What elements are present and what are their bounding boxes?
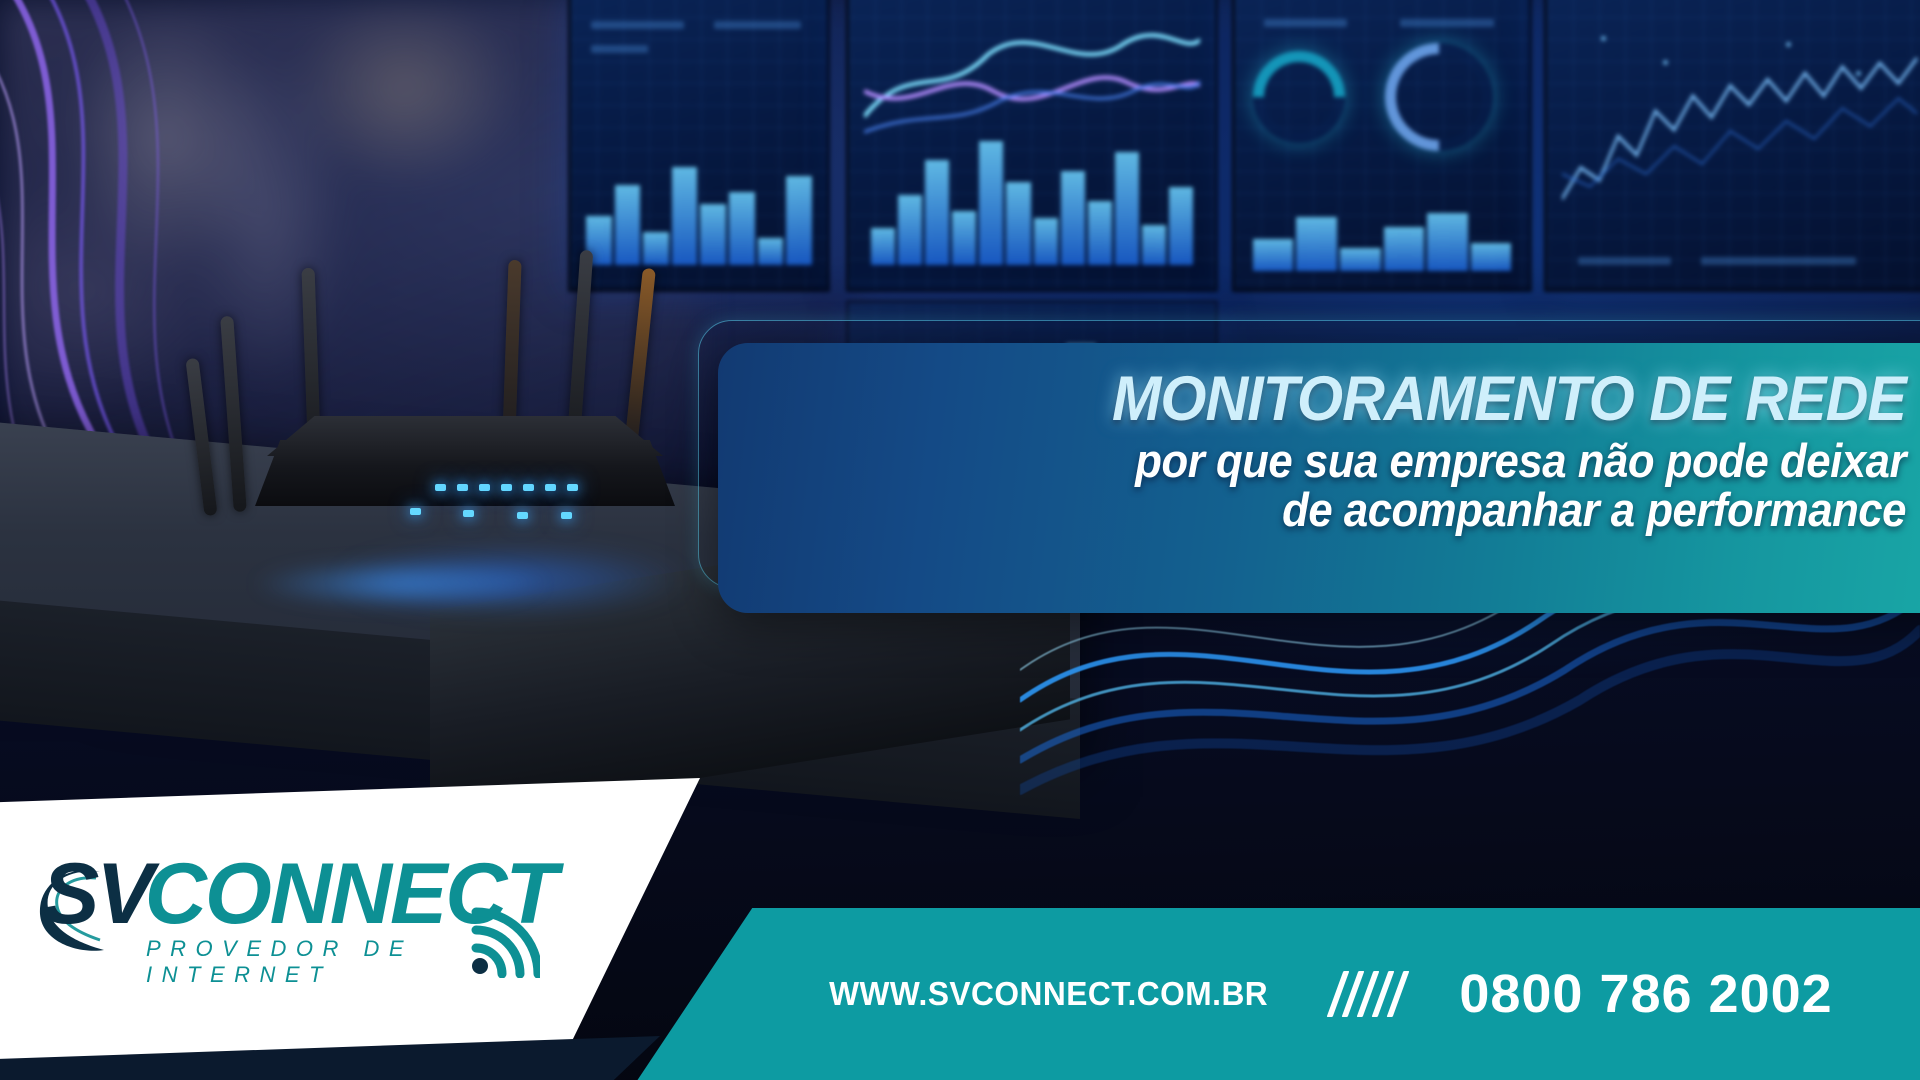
- headline-title: MONITORAMENTO DE REDE: [831, 369, 1906, 429]
- monitor-screen-4: [1544, 0, 1920, 292]
- router-reflection: [250, 560, 550, 608]
- marketing-banner: MONITORAMENTO DE REDE por que sua empres…: [0, 0, 1920, 1080]
- headline-panel: MONITORAMENTO DE REDE por que sua empres…: [718, 343, 1920, 613]
- website-url[interactable]: WWW.SVCONNECT.COM.BR: [829, 975, 1268, 1013]
- monitor-screen-3: [1232, 0, 1532, 292]
- diagonal-slashes-icon: [1335, 971, 1401, 1017]
- contact-footer-bar: WWW.SVCONNECT.COM.BR 0800 786 2002: [570, 908, 1920, 1080]
- brand-logo: SV CONNECT PROVEDOR DE INTERNET: [42, 856, 562, 996]
- brand-tagline: PROVEDOR DE INTERNET: [146, 936, 562, 988]
- monitor-screen-2: [846, 0, 1218, 292]
- headline-subtitle-line-1: por que sua empresa não pode deixar: [842, 437, 1906, 486]
- headline-subtitle-line-2: de acompanhar a performance: [842, 486, 1906, 535]
- wifi-router: [195, 240, 715, 540]
- logo-text-sv: SV: [42, 856, 151, 933]
- phone-number[interactable]: 0800 786 2002: [1459, 963, 1832, 1025]
